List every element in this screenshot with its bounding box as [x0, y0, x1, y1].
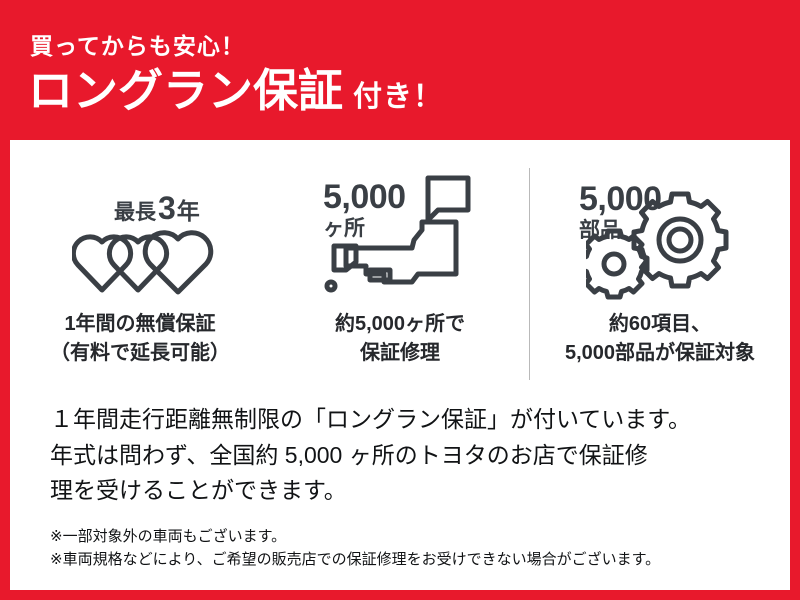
three-hearts-icon — [72, 222, 218, 296]
body-line: １年間走行距離無制限の「ロングラン保証」が付いています。 — [50, 402, 760, 438]
header-title-main: ロングラン保証 — [28, 68, 343, 113]
feature-graphic-service-locations: 5,000 ヶ所 — [270, 160, 530, 305]
body-line: 理を受けることができます。 — [50, 473, 760, 509]
japan-map-icon — [322, 170, 482, 298]
longrun-warranty-ad: 買ってからも安心！ ロングラン保証 付き！ 最長 3 年 — [0, 0, 800, 600]
gears-icon — [586, 182, 746, 304]
caption-line: 1年間の無償保証 — [10, 310, 270, 339]
feature-warranty-term: 最長 3 年 1 — [10, 160, 270, 390]
header-eyebrow-text: 買ってからも安心！ — [30, 27, 245, 61]
footnote-line: ※一部対象外の車両もございます。 — [50, 525, 770, 548]
feature-service-locations: 5,000 ヶ所 — [270, 160, 530, 390]
body-copy: １年間走行距離無制限の「ロングラン保証」が付いています。 年式は問わず、全国約 … — [50, 402, 760, 509]
footnote-line: ※車両規格などにより、ご希望の販売店での保証修理をお受けできない場合がございます… — [50, 548, 770, 571]
caption-line: 保証修理 — [270, 339, 530, 368]
feature-caption-service-locations: 約5,000ヶ所で 保証修理 — [270, 310, 530, 368]
stat-suffix: 年 — [177, 200, 200, 223]
content-panel: 最長 3 年 1 — [10, 140, 790, 590]
caption-line: 5,000部品が保証対象 — [530, 339, 790, 368]
stat-warranty-term: 最長 3 年 — [114, 192, 200, 224]
feature-graphic-warranty-term: 最長 3 年 — [10, 160, 270, 305]
caption-line: 約5,000ヶ所で — [270, 310, 530, 339]
footnotes: ※一部対象外の車両もございます。 ※車両規格などにより、ご希望の販売店での保証修… — [50, 525, 770, 572]
stat-number: 3 — [158, 192, 176, 224]
caption-line: （有料で延長可能） — [10, 339, 270, 368]
feature-caption-warranty-term: 1年間の無償保証 （有料で延長可能） — [10, 310, 270, 368]
stat-prefix: 最長 — [114, 202, 156, 223]
feature-covered-parts: 5,000 部品 — [530, 160, 790, 390]
feature-columns: 最長 3 年 1 — [10, 160, 790, 390]
feature-caption-covered-parts: 約60項目、 5,000部品が保証対象 — [530, 310, 790, 368]
header-title-suffix: 付き！ — [353, 83, 443, 112]
header-band: 買ってからも安心！ ロングラン保証 付き！ — [0, 0, 800, 140]
body-line: 年式は問わず、全国約 5,000 ヶ所のトヨタのお店で保証修 — [50, 438, 760, 474]
header-title: ロングラン保証 付き！ — [28, 68, 443, 113]
feature-graphic-covered-parts: 5,000 部品 — [530, 160, 790, 305]
caption-line: 約60項目、 — [530, 310, 790, 339]
